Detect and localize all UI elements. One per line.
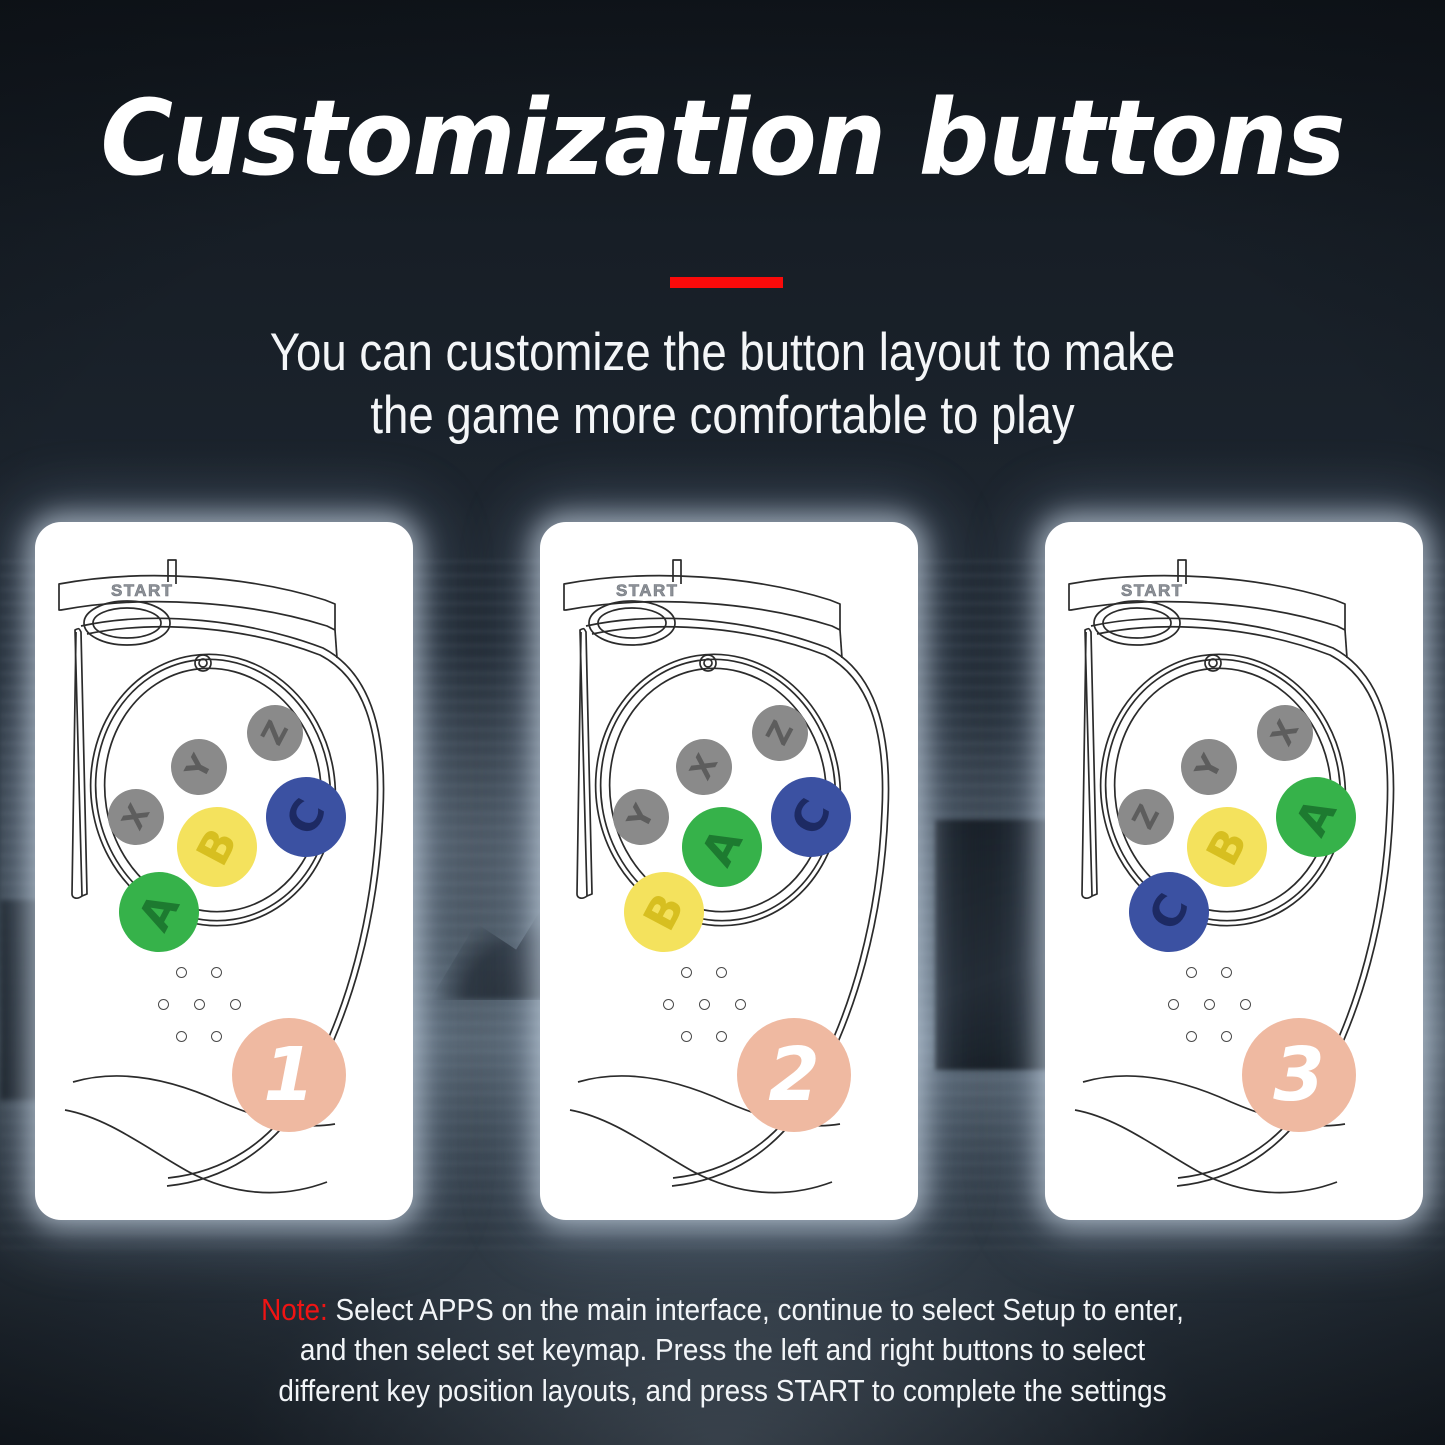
layout-number-badge: 2 [737,1018,851,1132]
note-line-3: different key position layouts, and pres… [207,1371,1238,1411]
title-underline-accent [670,277,783,288]
layout-number-badge: 1 [232,1018,346,1132]
start-label: START [1121,581,1183,601]
page-subtitle: You can customize the button layout to m… [196,322,1250,447]
start-label: START [111,581,173,601]
start-label: START [616,581,678,601]
page-title: Customization buttons [36,86,1409,190]
speaker-grill [1164,967,1256,1043]
speaker-grill [154,967,246,1043]
note-line-1-body: Select APPS on the main interface, conti… [328,1292,1184,1327]
subtitle-line-1: You can customize the button layout to m… [196,322,1250,385]
controller-illustration: START Z X Y C A B 2 [540,522,918,1220]
layout-card-3[interactable]: START X Y Z A B C 3 [1045,522,1423,1220]
promo-graphic: Customization buttons You can customize … [0,0,1445,1445]
controller-illustration: START Z Y X C B A 1 [35,522,413,1220]
note-line-2: and then select set keymap. Press the le… [207,1330,1238,1370]
speaker-grill [659,967,751,1043]
subtitle-line-2: the game more comfortable to play [196,385,1250,448]
controller-illustration: START X Y Z A B C 3 [1045,522,1423,1220]
layout-card-2[interactable]: START Z X Y C A B 2 [540,522,918,1220]
note-line-1: Note: Select APPS on the main interface,… [207,1290,1238,1330]
note-text: Note: Select APPS on the main interface,… [207,1290,1238,1411]
layout-number-badge: 3 [1242,1018,1356,1132]
layout-card-1[interactable]: START Z Y X C B A 1 [35,522,413,1220]
note-prefix: Note: [261,1292,328,1327]
